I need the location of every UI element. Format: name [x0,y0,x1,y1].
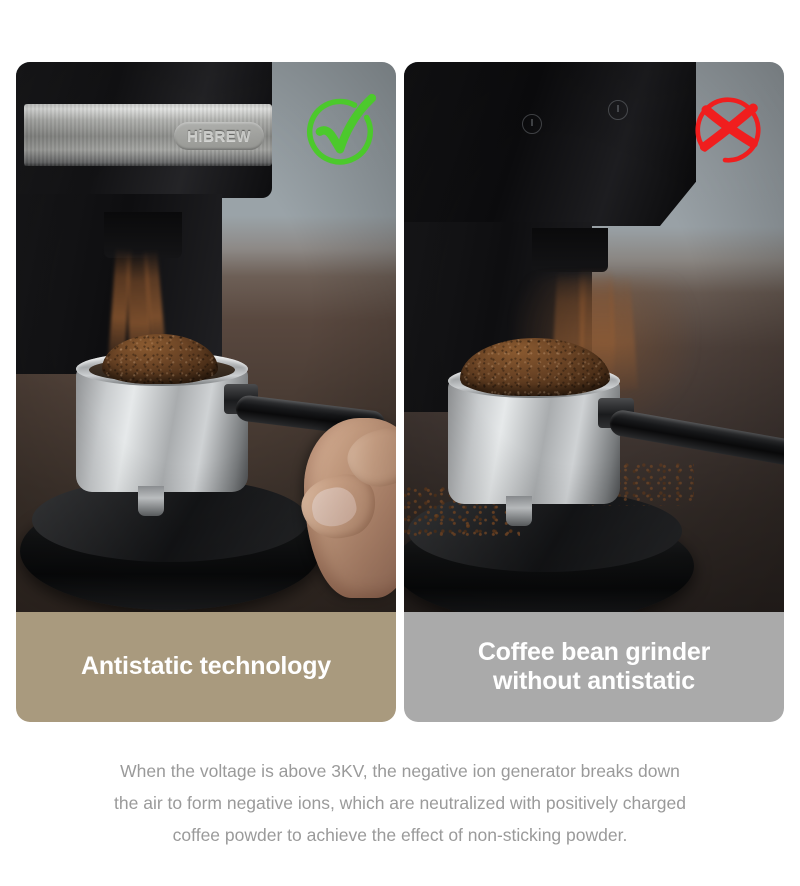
check-circle-icon [298,88,382,172]
note-line-1: When the voltage is above 3KV, the negat… [40,756,760,788]
caption-line-1: Coffee bean grinder [478,638,710,668]
brand-plate: HiBREW [174,122,264,150]
portafilter-spout [506,496,532,526]
caption-line-2: without antistatic [478,667,710,697]
grinder-chute [532,228,608,272]
caption-antistatic-label: Antistatic technology [81,652,331,682]
grinder-body [404,62,696,226]
coffee-speck [434,514,439,518]
explanatory-note: When the voltage is above 3KV, the negat… [40,756,760,852]
photo-antistatic: HiBREW [16,62,396,612]
note-line-2: the air to form negative ions, which are… [40,788,760,820]
power-button-icon[interactable] [608,100,628,120]
caption-without-antistatic-label: Coffee bean grinder without antistatic [478,638,710,697]
note-line-3: coffee powder to achieve the effect of n… [40,820,760,852]
grinder-body: HiBREW [16,62,272,198]
panel-without-antistatic[interactable]: Coffee bean grinder without antistatic [404,62,784,722]
timer-button-icon[interactable] [522,114,542,134]
portafilter-spout [138,486,164,516]
caption-without-antistatic: Coffee bean grinder without antistatic [404,612,784,722]
panel-antistatic[interactable]: HiBREW [16,62,396,722]
product-comparison-page: HiBREW [0,0,800,886]
portafilter [76,350,316,540]
comparison-row: HiBREW [16,62,784,722]
cross-circle-icon [686,88,770,172]
photo-without-antistatic [404,62,784,612]
brand-label: HiBREW [187,128,251,145]
steel-band: HiBREW [24,104,272,166]
portafilter [448,362,698,562]
caption-antistatic: Antistatic technology [16,612,396,722]
